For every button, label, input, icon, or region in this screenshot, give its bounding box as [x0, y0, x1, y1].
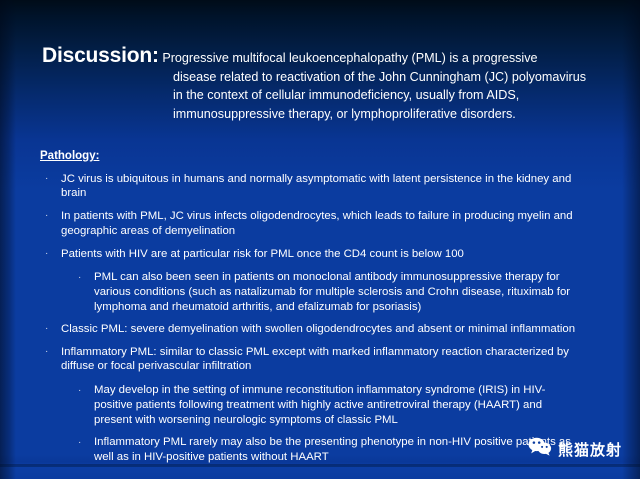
list-item: · JC virus is ubiquitous in humans and n… [40, 172, 600, 200]
bullet-marker-icon: · [45, 209, 61, 223]
list-item: · Patients with HIV are at particular ri… [40, 247, 600, 261]
list-item: · Classic PML: severe demyelination with… [40, 322, 600, 336]
list-item-text: Inflammatory PML: similar to classic PML… [61, 345, 600, 373]
bullet-marker-icon: · [78, 435, 94, 450]
title-continuation-text: disease related to reactivation of the J… [173, 68, 593, 124]
slide-title-block: Discussion: Progressive multifocal leuko… [42, 47, 602, 123]
list-item-text: Patients with HIV are at particular risk… [61, 247, 600, 261]
title-lead-text: Progressive multifocal leukoencephalopat… [159, 51, 538, 65]
list-item: · Inflammatory PML: similar to classic P… [40, 345, 600, 373]
bullet-marker-icon: · [78, 270, 94, 285]
bullet-marker-icon: · [78, 383, 94, 398]
sub-list-item: · Inflammatory PML rarely may also be th… [40, 435, 600, 465]
wechat-icon [528, 437, 552, 461]
bullet-marker-icon: · [45, 345, 61, 359]
sub-list-item-text: PML can also been seen in patients on mo… [94, 270, 600, 315]
bullet-marker-icon: · [45, 172, 61, 186]
bullet-marker-icon: · [45, 322, 61, 336]
list-item: · In patients with PML, JC virus infects… [40, 209, 600, 237]
sub-list-item-text: Inflammatory PML rarely may also be the … [94, 435, 600, 465]
section-heading-pathology: Pathology: [40, 150, 99, 162]
left-edge-shading [0, 0, 16, 479]
watermark-text: 熊猫放射 [558, 439, 622, 460]
bullet-list: · JC virus is ubiquitous in humans and n… [40, 172, 600, 472]
list-item-text: JC virus is ubiquitous in humans and nor… [61, 172, 600, 200]
list-item-text: In patients with PML, JC virus infects o… [61, 209, 600, 237]
list-item-text: Classic PML: severe demyelination with s… [61, 322, 600, 336]
watermark: 熊猫放射 [528, 437, 622, 461]
sub-list-item: · PML can also been seen in patients on … [40, 270, 600, 315]
right-edge-shading [622, 0, 640, 479]
sub-list-item-text: May develop in the setting of immune rec… [94, 383, 600, 428]
bullet-marker-icon: · [45, 247, 61, 261]
title-first-line: Discussion: Progressive multifocal leuko… [42, 47, 602, 68]
sub-list-item: · May develop in the setting of immune r… [40, 383, 600, 428]
page-title: Discussion: [42, 44, 159, 67]
presentation-slide: Discussion: Progressive multifocal leuko… [0, 0, 640, 479]
